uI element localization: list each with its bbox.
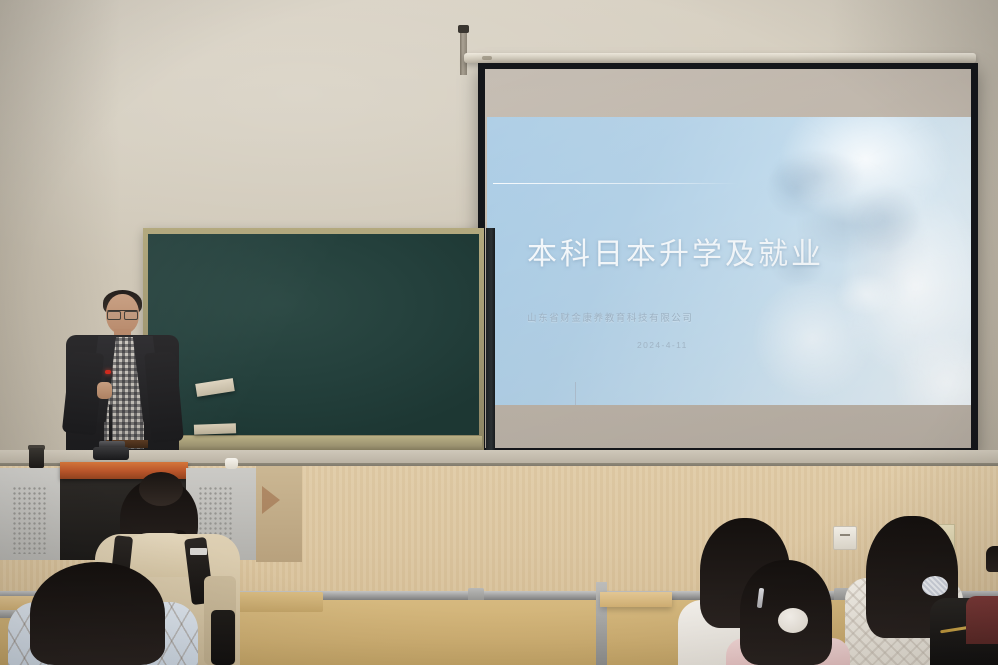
student-a-lower-garment — [211, 610, 235, 665]
slide-date: 2024-4-11 — [637, 340, 837, 350]
glasses-icon — [107, 310, 138, 319]
student-a-strap-logo — [190, 548, 207, 555]
speaker-grille-left — [12, 486, 46, 554]
roller-label — [482, 56, 492, 60]
slide-title: 本科日本升学及就业 — [527, 229, 887, 273]
screen-surface: 本科日本升学及就业 山东省财金康养教育科技有限公司 2024-4-11 — [485, 69, 971, 448]
board-side-post — [486, 228, 495, 450]
screen-roller-housing — [464, 53, 976, 63]
console-chevron-icon — [262, 486, 280, 514]
blackboard-surface — [148, 234, 479, 435]
blackboard — [143, 228, 484, 450]
screen-roller-bracket — [460, 29, 467, 75]
desk-surface — [600, 592, 672, 607]
wall-outlet-icon — [833, 526, 857, 550]
projected-slide: 本科日本升学及就业 山东省财金康养教育科技有限公司 2024-4-11 — [487, 117, 971, 405]
slide-subtitle: 山东省财金康养教育科技有限公司 — [527, 310, 847, 324]
paper-cup-icon — [225, 458, 238, 469]
thermos-icon — [29, 448, 44, 468]
student-d-scrunchie-icon — [778, 608, 808, 633]
projection-screen: 本科日本升学及就业 山东省财金康养教育科技有限公司 2024-4-11 — [478, 63, 978, 455]
chalk-eraser-ledge-icon — [194, 423, 236, 434]
student-f-maroon-top — [966, 596, 998, 644]
student-e-scrunchie — [922, 576, 948, 596]
student-a-bun — [139, 472, 183, 506]
blackboard-chalk-ledge — [145, 436, 482, 450]
stage-console-right — [256, 466, 302, 562]
presenter-remote-led — [105, 370, 111, 374]
presenter-hand — [97, 382, 112, 399]
microphone-base — [93, 447, 129, 460]
student-b-hair — [30, 562, 165, 665]
student-g-head — [986, 546, 998, 572]
classroom-photo: 本科日本升学及就业 山东省财金康养教育科技有限公司 2024-4-11 — [0, 0, 998, 665]
slide-seam — [575, 382, 576, 405]
microphone-stem — [109, 405, 112, 443]
slide-rule-top — [493, 183, 738, 184]
